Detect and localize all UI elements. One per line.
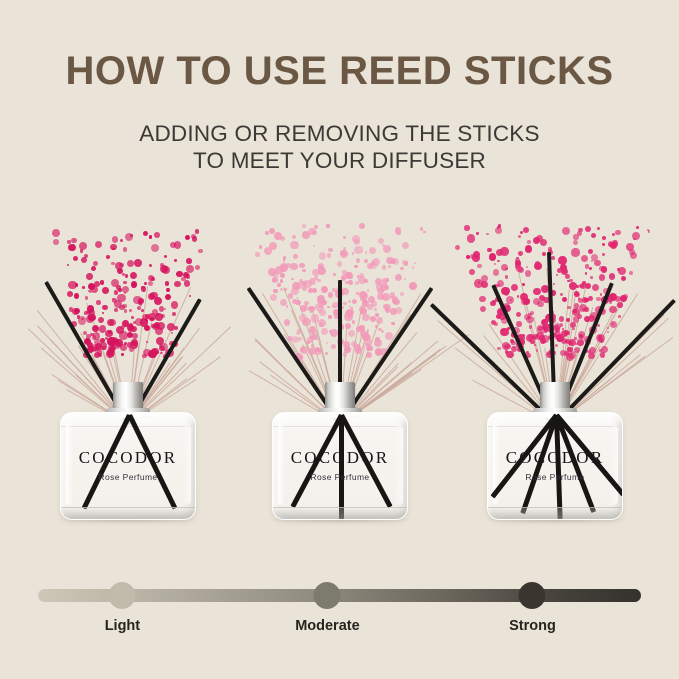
dried-flower	[536, 334, 539, 337]
intensity-label-moderate: Moderate	[295, 618, 359, 634]
dried-flower	[131, 281, 137, 287]
dried-flower	[539, 335, 545, 341]
dried-flower	[536, 235, 543, 242]
dried-flower	[375, 325, 377, 327]
dried-flower	[124, 292, 126, 294]
dried-flower	[318, 263, 325, 270]
dried-flower	[588, 296, 593, 301]
dried-flower	[362, 346, 365, 349]
dried-flower	[100, 338, 105, 343]
dried-flower	[577, 231, 582, 236]
dried-flower	[111, 262, 115, 266]
dried-flower	[113, 338, 119, 344]
dried-flower	[362, 298, 367, 303]
dried-flower	[518, 267, 524, 273]
dried-flower	[600, 352, 605, 357]
dried-flower	[544, 328, 547, 331]
dried-flower	[290, 241, 298, 249]
dried-flower	[148, 281, 153, 286]
dried-flower	[112, 248, 114, 250]
dried-flower	[174, 259, 176, 261]
dried-flower	[352, 320, 355, 323]
dried-flower	[493, 269, 499, 275]
dried-flower	[345, 272, 353, 280]
dried-flower	[102, 312, 105, 315]
dried-flower	[573, 240, 578, 245]
dried-flower	[497, 226, 500, 229]
dried-flower	[590, 276, 593, 279]
dried-flower	[171, 332, 173, 334]
bottle: COCODOR Rose Perfume	[60, 412, 196, 520]
dried-flower	[599, 274, 605, 280]
dried-flower	[151, 324, 154, 327]
dried-flower	[513, 346, 515, 348]
dried-flower	[151, 244, 159, 252]
glass-base	[273, 507, 407, 519]
dried-flower	[365, 251, 368, 254]
dried-flower	[377, 288, 384, 295]
dried-flower	[476, 232, 478, 234]
dried-flower	[366, 346, 371, 351]
dried-flower	[354, 246, 362, 254]
dried-flower	[551, 256, 555, 260]
dried-flower	[91, 266, 96, 271]
dried-flower	[344, 346, 350, 352]
dried-flower	[73, 256, 78, 261]
dried-flower	[572, 328, 575, 331]
dried-flower	[623, 294, 628, 299]
dried-flower	[500, 247, 508, 255]
dried-flower	[302, 269, 305, 272]
dried-flower	[371, 301, 377, 307]
dried-flower	[315, 303, 323, 311]
dried-flower	[52, 229, 60, 237]
dried-flower	[526, 266, 528, 268]
intensity-slider[interactable]	[38, 586, 641, 604]
dried-flower	[533, 288, 541, 296]
dried-flower	[92, 325, 100, 333]
dried-flower	[140, 304, 142, 306]
dried-flower	[516, 312, 521, 317]
dried-flower	[609, 273, 616, 280]
dried-flower	[326, 224, 329, 227]
dried-flower	[186, 258, 191, 263]
dried-flower	[480, 306, 486, 312]
dried-flower	[293, 254, 298, 259]
dried-flower	[618, 267, 626, 275]
dried-flower	[319, 252, 326, 259]
dried-flower	[348, 280, 353, 285]
dried-flower	[455, 245, 460, 250]
dried-flower	[541, 319, 548, 326]
dried-flower	[302, 224, 305, 227]
dried-flower	[610, 242, 617, 249]
dried-flower	[617, 302, 622, 307]
dried-flower	[131, 339, 137, 345]
dried-flower	[67, 291, 73, 297]
dried-flower	[372, 258, 380, 266]
intensity-label-light: Light	[105, 618, 140, 634]
dried-flower	[602, 243, 605, 246]
dried-flower	[516, 321, 521, 326]
dried-flower	[505, 268, 507, 270]
dried-flower	[648, 230, 650, 232]
dried-flower	[601, 266, 607, 272]
dried-flower	[125, 274, 128, 277]
dried-flower	[94, 281, 100, 287]
dried-flower	[292, 235, 296, 239]
dried-flower	[579, 304, 587, 312]
subtitle-line-1: ADDING OR REMOVING THE STICKS	[0, 120, 679, 147]
dried-flower	[303, 280, 311, 288]
dried-flower	[384, 285, 389, 290]
dried-flower	[311, 344, 314, 347]
dried-flower	[68, 281, 76, 289]
dried-flower	[345, 310, 353, 318]
dried-flower	[120, 344, 127, 351]
dried-flower	[149, 264, 152, 267]
dried-flower	[584, 316, 590, 322]
diffuser-light: COCODOR Rose Perfume	[33, 196, 223, 564]
dried-flower	[589, 267, 593, 271]
dried-flower	[464, 225, 469, 230]
brand-label: COCODOR	[272, 448, 408, 468]
dried-flower	[277, 283, 281, 287]
dried-flower	[166, 288, 171, 293]
dried-flower	[467, 234, 475, 242]
dried-flower	[74, 293, 80, 299]
dried-flower	[591, 233, 596, 238]
dried-flower	[280, 263, 288, 271]
dried-flower	[119, 263, 123, 267]
dried-flower	[299, 314, 306, 321]
brand-label: COCODOR	[487, 448, 623, 468]
dried-flower	[521, 298, 528, 305]
bottle: COCODOR Rose Perfume	[487, 412, 623, 520]
dried-flower	[94, 352, 100, 358]
dried-flower	[591, 260, 593, 262]
dried-flower	[388, 265, 391, 268]
dried-flower	[525, 270, 532, 277]
dried-flower	[87, 305, 95, 313]
dried-flower	[343, 352, 348, 357]
dried-flower	[505, 275, 509, 279]
dried-flower	[489, 253, 496, 260]
slider-knob-moderate[interactable]	[314, 582, 341, 609]
dried-flower	[160, 352, 162, 354]
dried-flower	[581, 255, 588, 262]
dried-flower	[84, 338, 91, 345]
dried-flower	[382, 244, 384, 246]
dried-flower	[367, 289, 370, 292]
diffuser-moderate: COCODOR Rose Perfume	[245, 196, 435, 564]
subtitle-line-2: TO MEET YOUR DIFFUSER	[0, 147, 679, 174]
dried-flower	[312, 288, 317, 293]
dried-flower	[354, 239, 360, 245]
dried-flower	[317, 279, 321, 283]
dried-flower	[636, 226, 639, 229]
slider-knob-light[interactable]	[109, 582, 136, 609]
dried-flower	[325, 352, 328, 355]
dried-flower	[174, 326, 178, 330]
dried-flower	[159, 346, 164, 351]
dried-flower	[497, 280, 504, 287]
dried-flower	[142, 314, 148, 320]
dried-flower	[555, 344, 558, 347]
dried-flower	[404, 278, 406, 280]
dried-flower	[562, 227, 570, 235]
dried-flower	[198, 249, 202, 253]
dried-flower	[85, 296, 89, 300]
dried-flower	[528, 316, 531, 319]
dried-flower	[609, 306, 616, 313]
dried-flower	[181, 277, 185, 281]
dried-flower	[151, 348, 158, 355]
dried-flower	[525, 245, 532, 252]
dried-flower	[515, 258, 520, 263]
dried-flower	[321, 286, 328, 293]
dried-flower	[174, 241, 182, 249]
bottle: COCODOR Rose Perfume	[272, 412, 408, 520]
dried-flower	[364, 259, 368, 263]
dried-flower	[528, 299, 530, 301]
dried-flower	[130, 272, 137, 279]
dried-flower	[535, 266, 538, 269]
dried-flower	[184, 280, 191, 287]
dried-flower	[395, 274, 402, 281]
dried-flower	[165, 281, 169, 285]
dried-flower	[82, 286, 86, 290]
dried-flower	[105, 330, 112, 337]
dried-flower	[106, 255, 110, 259]
dried-flower	[602, 236, 606, 240]
dried-flower	[288, 293, 293, 298]
dried-flower	[518, 235, 521, 238]
dried-flower	[559, 316, 565, 322]
dried-flower	[171, 301, 178, 308]
dried-flower	[602, 253, 605, 256]
glass-base	[61, 507, 195, 519]
dried-flower	[409, 282, 417, 290]
product-row: COCODOR Rose Perfume COCODOR Rose Perfum…	[0, 196, 679, 564]
dried-flower	[299, 263, 305, 269]
dried-flower	[124, 309, 128, 313]
dried-flower	[348, 330, 355, 337]
dried-flower	[80, 249, 83, 252]
dried-flower	[618, 315, 620, 317]
dried-flower	[265, 231, 269, 235]
dried-flower	[160, 265, 168, 273]
dried-flower	[93, 261, 98, 266]
dried-flower	[369, 247, 376, 254]
dried-flower	[571, 248, 579, 256]
dried-flower	[400, 292, 404, 296]
dried-flower	[327, 253, 332, 258]
dried-flower	[366, 343, 369, 346]
brand-label: COCODOR	[60, 448, 196, 468]
dried-flower	[141, 286, 146, 291]
dried-flower	[309, 326, 316, 333]
dried-flower	[124, 342, 127, 345]
dried-flower	[574, 291, 579, 296]
dried-flower	[149, 235, 152, 238]
dried-flower	[466, 255, 470, 259]
dried-flower	[391, 322, 394, 325]
dried-flower	[558, 256, 566, 264]
dried-flower	[270, 294, 277, 301]
dried-flower	[112, 236, 119, 243]
dried-flower	[574, 303, 579, 308]
dried-flower	[154, 232, 160, 238]
dried-flower	[144, 282, 147, 285]
dried-flower	[535, 261, 539, 265]
dried-flower	[354, 265, 358, 269]
dried-flower	[402, 242, 409, 249]
dried-flower	[360, 308, 366, 314]
dried-flower	[370, 316, 377, 323]
dried-flower	[129, 323, 133, 327]
dried-flower	[607, 327, 609, 329]
dried-flower	[585, 272, 587, 274]
dried-flower	[327, 306, 329, 308]
dried-flower	[578, 297, 580, 299]
dried-flower	[607, 331, 609, 333]
dried-flower	[143, 231, 148, 236]
dried-flower	[71, 238, 76, 243]
dried-flower	[102, 305, 108, 311]
dried-flower	[131, 316, 134, 319]
dried-flower	[386, 278, 389, 281]
page-title: HOW TO USE REED STICKS	[0, 48, 679, 94]
dried-flower	[396, 231, 401, 236]
dried-flower	[615, 230, 621, 236]
dried-flower	[568, 351, 576, 359]
dried-flower	[375, 313, 378, 316]
dried-flower	[356, 258, 361, 263]
dried-flower	[174, 281, 181, 288]
dried-flower	[102, 287, 109, 294]
dried-flower	[629, 271, 633, 275]
dried-flower	[556, 274, 558, 276]
dried-flower	[273, 289, 278, 294]
dried-flower	[118, 288, 122, 292]
dried-flower	[319, 323, 323, 327]
dried-flower	[129, 309, 132, 312]
dried-flower	[255, 252, 259, 256]
slider-knob-strong[interactable]	[519, 582, 546, 609]
intensity-label-strong: Strong	[509, 618, 556, 634]
dried-flower	[487, 248, 491, 252]
dried-flower	[565, 340, 568, 343]
dried-flower	[500, 328, 508, 336]
dried-flower	[328, 248, 333, 253]
dried-flower	[315, 336, 318, 339]
dried-flower	[134, 259, 142, 267]
dried-flower	[331, 344, 336, 349]
dried-flower	[497, 260, 500, 263]
dried-flower	[479, 296, 486, 303]
dried-flower	[127, 260, 134, 267]
dried-flower	[123, 281, 127, 285]
dried-flower	[116, 326, 124, 334]
dried-flower	[308, 228, 316, 236]
dried-flower	[486, 233, 488, 235]
dried-flower	[165, 294, 171, 300]
dried-flower	[123, 247, 128, 252]
dried-flower	[359, 325, 364, 330]
dried-flower	[328, 292, 334, 298]
dried-flower	[329, 330, 332, 333]
dried-flower	[345, 323, 351, 329]
dried-flower	[161, 314, 165, 318]
dried-flower	[621, 276, 627, 282]
dried-flower	[395, 307, 403, 315]
dried-flower	[374, 308, 377, 311]
dried-flower	[469, 269, 475, 275]
dried-flower	[478, 281, 480, 283]
dried-flower	[383, 304, 388, 309]
dried-flower	[313, 245, 315, 247]
dried-flower	[592, 284, 599, 291]
dried-flower	[159, 306, 164, 311]
dried-flower	[321, 328, 328, 335]
dried-flower	[326, 342, 328, 344]
variant-label: Rose Perfume	[487, 472, 623, 482]
page-subtitle: ADDING OR REMOVING THE STICKS TO MEET YO…	[0, 120, 679, 174]
dried-flower	[141, 309, 144, 312]
dried-flower	[86, 273, 92, 279]
dried-flower	[598, 335, 603, 340]
dried-flower	[542, 252, 546, 256]
dried-flower	[597, 324, 600, 327]
dried-flower	[284, 288, 287, 291]
dried-flower	[283, 259, 286, 262]
glass-base	[488, 507, 622, 519]
dried-flower	[67, 264, 69, 266]
dried-flower	[102, 346, 105, 349]
dried-flower	[150, 292, 157, 299]
dried-flower	[340, 250, 348, 258]
dried-flower	[333, 273, 336, 276]
dried-flower	[596, 297, 600, 301]
dried-flower	[189, 295, 191, 297]
dried-flower	[527, 240, 530, 243]
dried-flower	[290, 263, 298, 271]
dried-flower	[307, 336, 314, 343]
dried-flower	[632, 232, 640, 240]
dried-flower	[423, 231, 426, 234]
dried-flower	[518, 251, 523, 256]
dried-flower	[304, 301, 309, 306]
dried-flower	[585, 226, 591, 232]
dried-flower	[600, 293, 602, 295]
dried-flower	[412, 266, 414, 268]
dried-flower	[286, 305, 288, 307]
dried-flower	[298, 337, 302, 341]
dried-flower	[362, 314, 369, 321]
dried-flower	[297, 329, 301, 333]
dried-flower	[348, 300, 351, 303]
dried-flower	[580, 283, 586, 289]
dried-flower	[337, 261, 342, 266]
dried-flower	[349, 306, 351, 308]
dried-flower	[120, 239, 124, 243]
dried-flower	[343, 302, 346, 305]
dried-flower	[501, 287, 509, 295]
dried-flower	[477, 264, 482, 269]
dried-flower	[53, 239, 59, 245]
dried-flower	[359, 223, 365, 229]
